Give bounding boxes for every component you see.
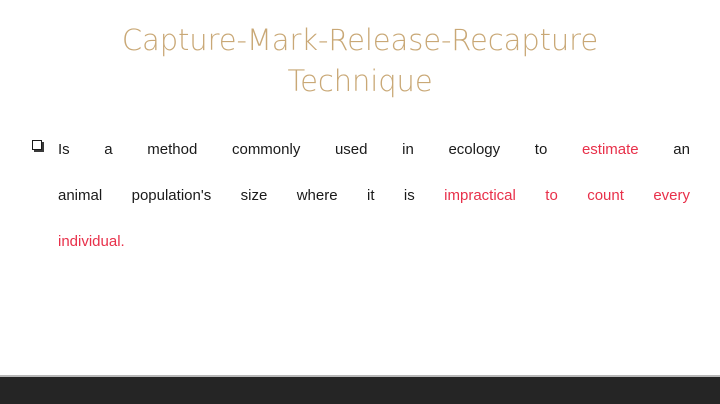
shadowed-square-bullet-icon [32,140,46,154]
bullet-list-item: Is a method commonly used in ecology to … [32,138,690,253]
slide-title: Capture-Mark-Release-Recapture Technique [60,20,660,102]
bullet-line-1-seg-1: Is a method commonly used in ecology to [58,141,582,158]
bullet-text-body: Is a method commonly used in ecology to … [58,138,690,253]
bullet-line-2-seg-1: animal population's size where it is [58,187,444,204]
player-control-bar[interactable] [0,377,720,404]
video-player-screen: Capture-Mark-Release-Recapture Technique… [0,0,720,404]
bullet-line-1: Is a method commonly used in ecology to … [58,138,690,184]
bullet-face [32,140,42,150]
bullet-line-3: individual. [58,230,690,253]
slide-body: Is a method commonly used in ecology to … [32,138,690,253]
bullet-line-2: animal population's size where it is imp… [58,184,690,230]
bullet-line-3-seg-1-highlight: individual. [58,233,125,250]
presentation-slide: Capture-Mark-Release-Recapture Technique… [0,0,720,375]
bullet-line-2-seg-2-highlight: impractical to count every [444,187,690,204]
bullet-line-1-seg-3: an [639,141,690,158]
bullet-line-1-seg-2-highlight: estimate [582,141,639,158]
